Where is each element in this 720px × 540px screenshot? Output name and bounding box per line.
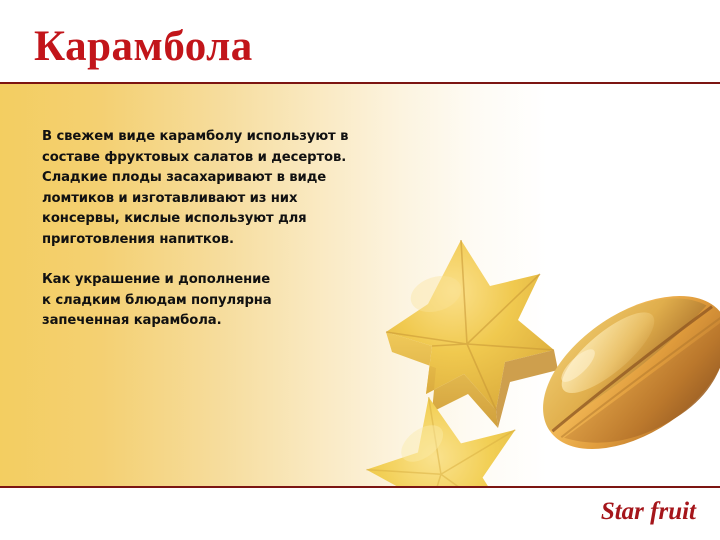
slide: Карамбола В свежем виде карамболу исполь… <box>0 0 720 540</box>
paragraph-1-line-2: составе фруктовых салатов и десертов. <box>42 150 346 165</box>
slide-header: Карамбола <box>0 0 720 84</box>
paragraph-2-line-2: к сладким блюдам популярна <box>42 293 272 308</box>
paragraph-1-line-5: консервы, кислые используют для <box>42 211 307 226</box>
paragraph-2-line-1: Как украшение и дополнение <box>42 272 270 287</box>
paragraph-1-line-1: В свежем виде карамболу используют в <box>42 129 348 144</box>
paragraph-1-line-3: Сладкие плоды засахаривают в виде <box>42 170 326 185</box>
paragraph-2-line-3: запеченная карамбола. <box>42 313 222 328</box>
slide-footer: Star fruit <box>0 488 720 540</box>
slide-body: В свежем виде карамболу используют всост… <box>0 84 720 486</box>
footer-caption: Star fruit <box>601 497 696 527</box>
paragraph-1-line-4: ломтиков и изготавливают из них <box>42 191 297 206</box>
paragraph-1-line-6: приготовления напитков. <box>42 232 234 247</box>
page-title: Карамбола <box>34 22 253 72</box>
star-cross-section-wedge <box>386 240 558 428</box>
